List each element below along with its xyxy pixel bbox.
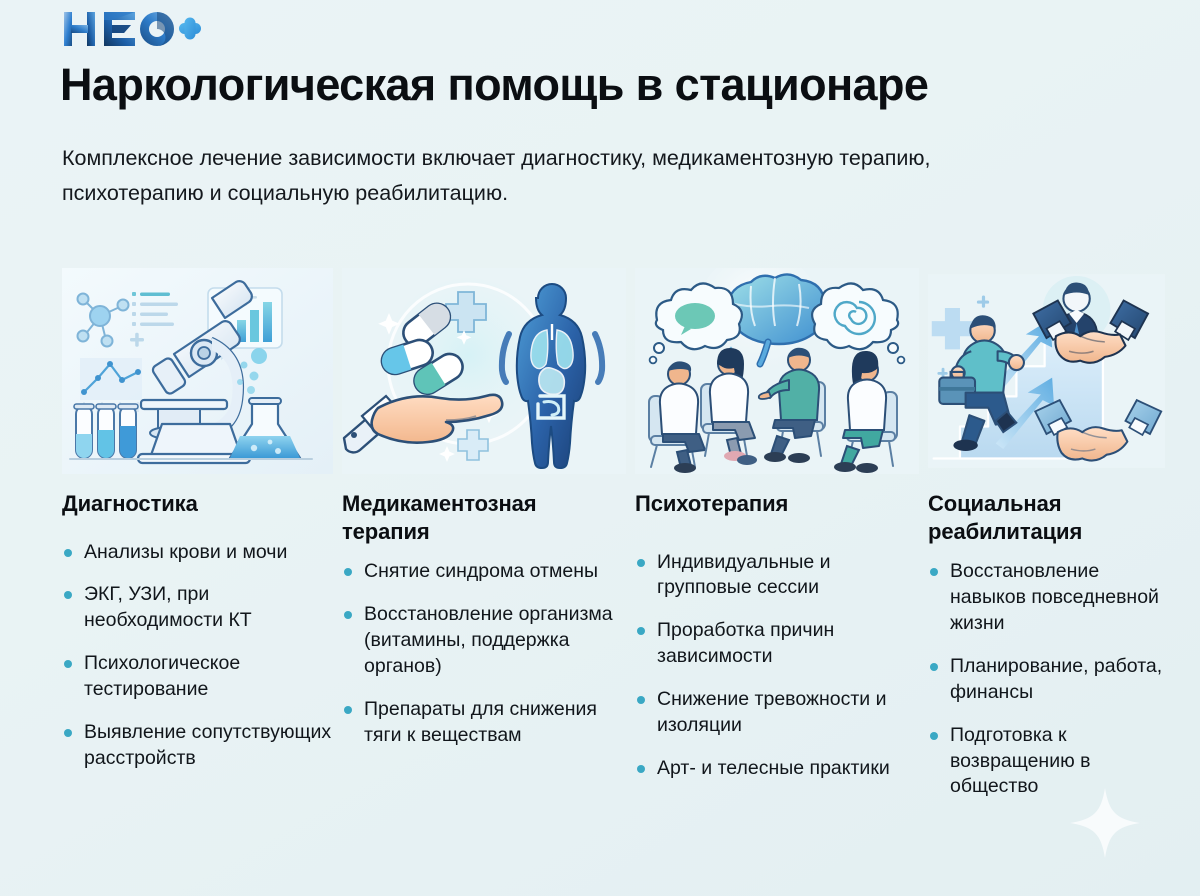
list-item: Восстановление навыков повседневной жизн…: [928, 559, 1165, 637]
column-title-medication: Медикаментозная терапия: [342, 490, 626, 545]
list-item: Снижение тревожности и изоляции: [635, 687, 919, 739]
list-item: Снятие синдрома отмены: [342, 559, 626, 585]
neo-plus-logo-icon: [62, 8, 202, 50]
illustration-social-rehab: [928, 268, 1165, 474]
column-list-medication: Снятие синдрома отмены Восстановление ор…: [342, 559, 626, 749]
column-list-social-rehab: Восстановление навыков повседневной жизн…: [928, 559, 1165, 800]
list-item: Индивидуальные и групповые сессии: [635, 550, 919, 602]
hand-with-pills-icon: [342, 268, 626, 474]
infographic-page: Наркологическая помощь в стационаре Комп…: [0, 0, 1200, 896]
logo-letter-o: [140, 12, 174, 46]
illustration-diagnostics: [62, 268, 333, 474]
list-item: Препараты для снижения тяги к веществам: [342, 697, 626, 749]
list-item: Проработка причин зависимости: [635, 618, 919, 670]
list-item: Арт- и телесные практики: [635, 756, 919, 782]
logo-letter-n: [64, 12, 95, 46]
logo-plus-icon: [179, 18, 201, 40]
page-subtitle: Комплексное лечение зависимости включает…: [62, 141, 962, 211]
column-medication: Медикаментозная терапия Снятие синдрома …: [342, 268, 626, 817]
microscope-lab-icon: [62, 268, 333, 474]
brand-logo: [62, 8, 202, 50]
list-item: Планирование, работа, финансы: [928, 654, 1165, 706]
career-handshake-icon: [928, 268, 1165, 474]
column-psychotherapy: Психотерапия Индивидуальные и групповые …: [635, 268, 919, 817]
column-title-social-rehab: Социальная реабилитация: [928, 490, 1165, 545]
column-social-rehab: Социальная реабилитация Восстановление н…: [928, 268, 1165, 817]
service-columns: Диагностика Анализы крови и мочи ЭКГ, УЗ…: [62, 268, 1138, 817]
group-therapy-icon: [635, 268, 919, 474]
column-title-diagnostics: Диагностика: [62, 490, 333, 518]
column-diagnostics: Диагностика Анализы крови и мочи ЭКГ, УЗ…: [62, 268, 333, 817]
column-list-diagnostics: Анализы крови и мочи ЭКГ, УЗИ, при необх…: [62, 540, 333, 772]
logo-letter-e: [104, 12, 135, 46]
list-item: Подготовка к возвращению в общество: [928, 723, 1165, 801]
list-item: Выявление сопутствующих расстройств: [62, 720, 333, 772]
page-title: Наркологическая помощь в стационаре: [60, 60, 928, 110]
list-item: Анализы крови и мочи: [62, 540, 333, 566]
column-list-psychotherapy: Индивидуальные и групповые сессии Прораб…: [635, 550, 919, 782]
illustration-medication: [342, 268, 626, 474]
column-title-psychotherapy: Психотерапия: [635, 490, 919, 518]
list-item: Психологическое тестирование: [62, 651, 333, 703]
test-tubes-icon: [74, 404, 138, 458]
list-item: Восстановление организма (витамины, подд…: [342, 602, 626, 680]
list-item: ЭКГ, УЗИ, при необходимости КТ: [62, 582, 333, 634]
illustration-psychotherapy: [635, 268, 919, 474]
